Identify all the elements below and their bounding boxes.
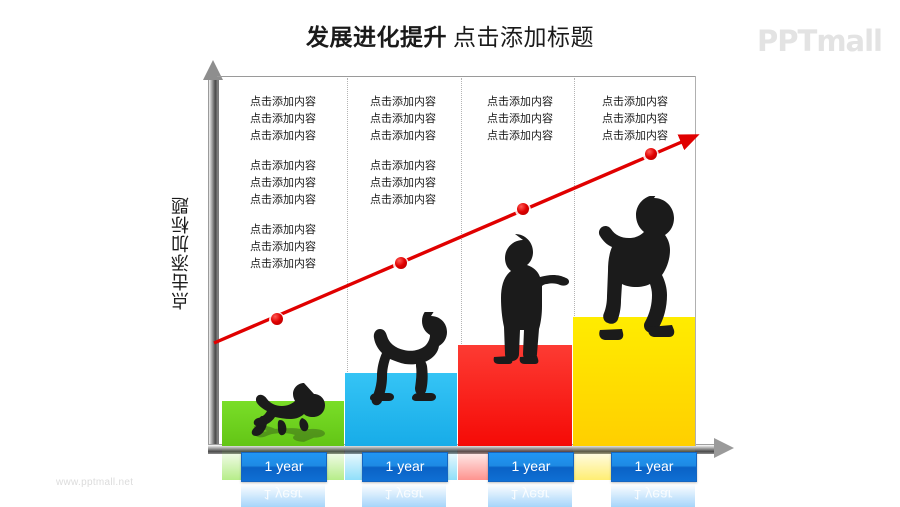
- text-line: 点击添加内容: [228, 256, 338, 273]
- text-line: 点击添加内容: [228, 175, 338, 192]
- column-text-3: 点击添加内容 点击添加内容 点击添加内容: [465, 94, 575, 145]
- text-group: 点击添加内容 点击添加内容 点击添加内容: [228, 158, 338, 209]
- text-line: 点击添加内容: [348, 175, 458, 192]
- text-line: 点击添加内容: [580, 128, 690, 145]
- standing-toddler-silhouette: [487, 232, 571, 367]
- column-text-4: 点击添加内容 点击添加内容 点击添加内容: [580, 94, 690, 145]
- year-label-1[interactable]: 1 year: [241, 452, 327, 482]
- text-group: 点击添加内容 点击添加内容 点击添加内容: [348, 158, 458, 209]
- text-line: 点击添加内容: [580, 94, 690, 111]
- year-label-reflection-4: 1 year: [611, 481, 695, 507]
- up-arrow-icon: [203, 60, 223, 80]
- text-line: 点击添加内容: [228, 192, 338, 209]
- text-group: 点击添加内容 点击添加内容 点击添加内容: [228, 222, 338, 273]
- plot-top-border: [217, 76, 696, 77]
- crawling-baby-silhouette: [240, 372, 336, 446]
- walking-child-silhouette: [594, 196, 686, 342]
- year-label-reflection-1: 1 year: [241, 481, 325, 507]
- text-group: 点击添加内容 点击添加内容 点击添加内容: [348, 94, 458, 145]
- text-line: 点击添加内容: [348, 158, 458, 175]
- text-line: 点击添加内容: [580, 111, 690, 128]
- text-line: 点击添加内容: [228, 239, 338, 256]
- text-line: 点击添加内容: [228, 94, 338, 111]
- plot-right-border: [695, 76, 696, 446]
- text-line: 点击添加内容: [228, 158, 338, 175]
- crawling-toddler-silhouette: [357, 312, 457, 408]
- year-label-4[interactable]: 1 year: [611, 452, 697, 482]
- text-line: 点击添加内容: [228, 222, 338, 239]
- text-line: 点击添加内容: [465, 111, 575, 128]
- column-text-1: 点击添加内容 点击添加内容 点击添加内容 点击添加内容 点击添加内容 点击添加内…: [228, 94, 338, 273]
- growth-bar-chart: 点击添加标题: [0, 0, 900, 506]
- column-text-2: 点击添加内容 点击添加内容 点击添加内容 点击添加内容 点击添加内容 点击添加内…: [348, 94, 458, 209]
- text-line: 点击添加内容: [348, 94, 458, 111]
- right-arrow-icon: [714, 438, 734, 458]
- y-axis-label: 点击添加标题: [168, 196, 194, 310]
- text-line: 点击添加内容: [348, 192, 458, 209]
- year-label-reflection-3: 1 year: [488, 481, 572, 507]
- text-line: 点击添加内容: [348, 111, 458, 128]
- text-group: 点击添加内容 点击添加内容 点击添加内容: [580, 94, 690, 145]
- text-line: 点击添加内容: [465, 94, 575, 111]
- text-group: 点击添加内容 点击添加内容 点击添加内容: [228, 94, 338, 145]
- text-line: 点击添加内容: [465, 128, 575, 145]
- year-label-reflection-2: 1 year: [362, 481, 446, 507]
- year-label-3[interactable]: 1 year: [488, 452, 574, 482]
- text-line: 点击添加内容: [228, 111, 338, 128]
- text-line: 点击添加内容: [228, 128, 338, 145]
- text-line: 点击添加内容: [348, 128, 458, 145]
- y-axis-line: [208, 78, 219, 452]
- year-label-2[interactable]: 1 year: [362, 452, 448, 482]
- text-group: 点击添加内容 点击添加内容 点击添加内容: [465, 94, 575, 145]
